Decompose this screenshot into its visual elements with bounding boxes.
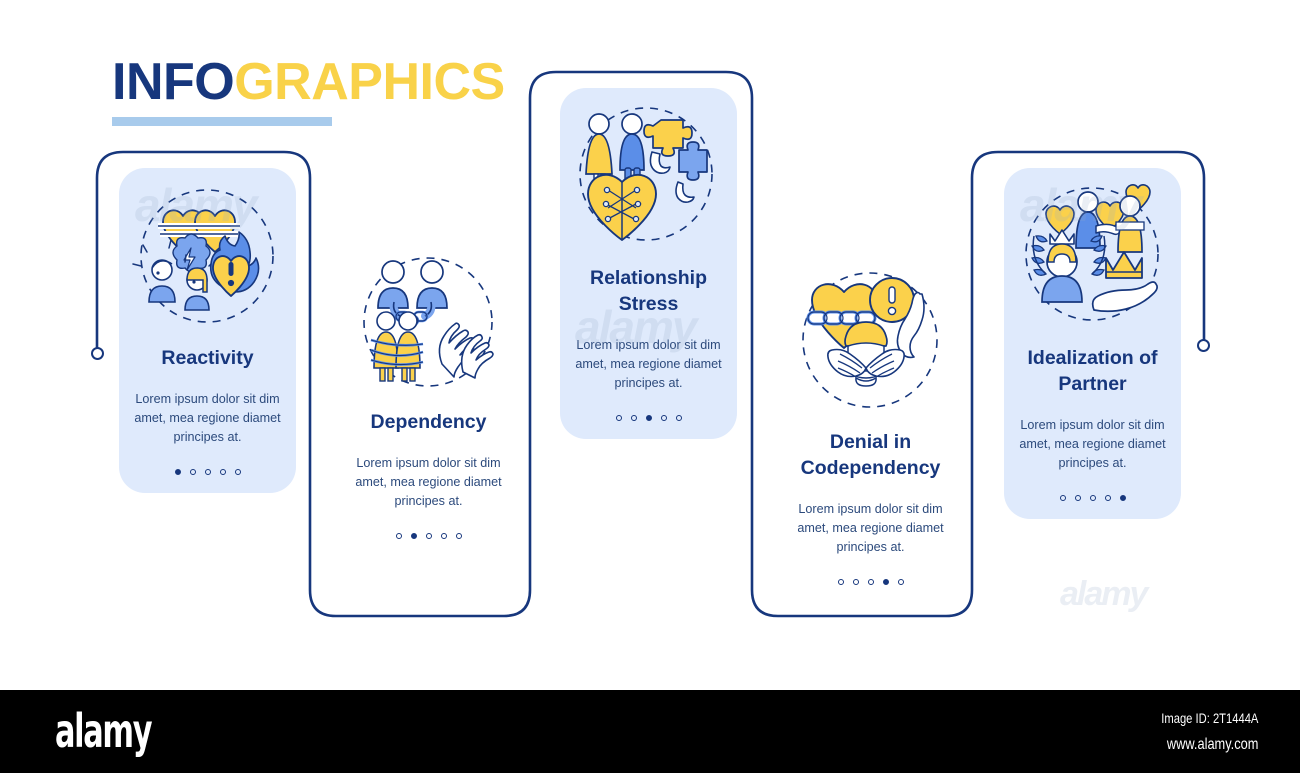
- watermark-text: alamy: [1060, 575, 1146, 614]
- step-indicator-dots[interactable]: [560, 415, 737, 421]
- dot-4[interactable]: [220, 469, 226, 475]
- dot-4[interactable]: [661, 415, 667, 421]
- dot-2[interactable]: [1075, 495, 1081, 501]
- step-card-denial-in-codependency[interactable]: Denial in Codependency Lorem ipsum dolor…: [782, 252, 959, 603]
- dot-1[interactable]: [175, 469, 181, 475]
- idealization-of-partner-icon: [1010, 178, 1175, 338]
- page-title: INFOGRAPHICS: [112, 56, 632, 126]
- alamy-url: www.alamy.com: [1161, 736, 1258, 754]
- dot-4[interactable]: [1105, 495, 1111, 501]
- card-title: Denial in Codependency: [782, 430, 959, 482]
- title-text: INFOGRAPHICS: [112, 56, 632, 108]
- infographic-canvas: INFOGRAPHICS: [0, 0, 1300, 690]
- dot-3[interactable]: [646, 415, 652, 421]
- step-indicator-dots[interactable]: [119, 469, 296, 475]
- title-secondary: GRAPHICS: [234, 53, 504, 111]
- dot-1[interactable]: [838, 579, 844, 585]
- dot-5[interactable]: [456, 533, 462, 539]
- card-description: Lorem ipsum dolor sit dim amet, mea regi…: [560, 336, 737, 393]
- title-primary: INFO: [112, 53, 234, 111]
- card-title: Reactivity: [119, 346, 296, 372]
- path-endpoint-left: [91, 347, 104, 360]
- dot-2[interactable]: [853, 579, 859, 585]
- image-id-label: Image ID: 2T1444A: [1161, 710, 1258, 726]
- dependency-icon: [346, 242, 511, 402]
- path-endpoint-right: [1197, 339, 1210, 352]
- footer-bar: alamy Image ID: 2T1444A www.alamy.com: [0, 690, 1300, 773]
- dot-3[interactable]: [1090, 495, 1096, 501]
- dot-5[interactable]: [898, 579, 904, 585]
- card-description: Lorem ipsum dolor sit dim amet, mea regi…: [340, 454, 517, 511]
- alamy-logo: alamy: [55, 704, 151, 758]
- dot-3[interactable]: [205, 469, 211, 475]
- card-description: Lorem ipsum dolor sit dim amet, mea regi…: [782, 500, 959, 557]
- dot-1[interactable]: [1060, 495, 1066, 501]
- denial-in-codependency-icon: [788, 262, 953, 422]
- dot-2[interactable]: [190, 469, 196, 475]
- step-indicator-dots[interactable]: [1004, 495, 1181, 501]
- dot-2[interactable]: [631, 415, 637, 421]
- dot-1[interactable]: [616, 415, 622, 421]
- card-description: Lorem ipsum dolor sit dim amet, mea regi…: [1004, 416, 1181, 473]
- card-title: Dependency: [340, 410, 517, 436]
- dot-4[interactable]: [883, 579, 889, 585]
- dot-5[interactable]: [676, 415, 682, 421]
- reactivity-icon: [125, 178, 290, 338]
- dot-5[interactable]: [235, 469, 241, 475]
- relationship-stress-icon: [566, 98, 731, 258]
- step-card-relationship-stress[interactable]: Relationship Stress Lorem ipsum dolor si…: [560, 88, 737, 439]
- step-card-dependency[interactable]: Dependency Lorem ipsum dolor sit dim ame…: [340, 232, 517, 557]
- step-indicator-dots[interactable]: [340, 533, 517, 539]
- card-title: Relationship Stress: [560, 266, 737, 318]
- footer-meta: Image ID: 2T1444A www.alamy.com: [1137, 710, 1258, 754]
- card-description: Lorem ipsum dolor sit dim amet, mea regi…: [119, 390, 296, 447]
- dot-5[interactable]: [1120, 495, 1126, 501]
- step-card-idealization-of-partner[interactable]: Idealization of Partner Lorem ipsum dolo…: [1004, 168, 1181, 519]
- card-title: Idealization of Partner: [1004, 346, 1181, 398]
- step-indicator-dots[interactable]: [782, 579, 959, 585]
- title-underline: [112, 117, 332, 126]
- dot-2[interactable]: [411, 533, 417, 539]
- dot-4[interactable]: [441, 533, 447, 539]
- dot-3[interactable]: [868, 579, 874, 585]
- dot-1[interactable]: [396, 533, 402, 539]
- step-card-reactivity[interactable]: Reactivity Lorem ipsum dolor sit dim ame…: [119, 168, 296, 493]
- dot-3[interactable]: [426, 533, 432, 539]
